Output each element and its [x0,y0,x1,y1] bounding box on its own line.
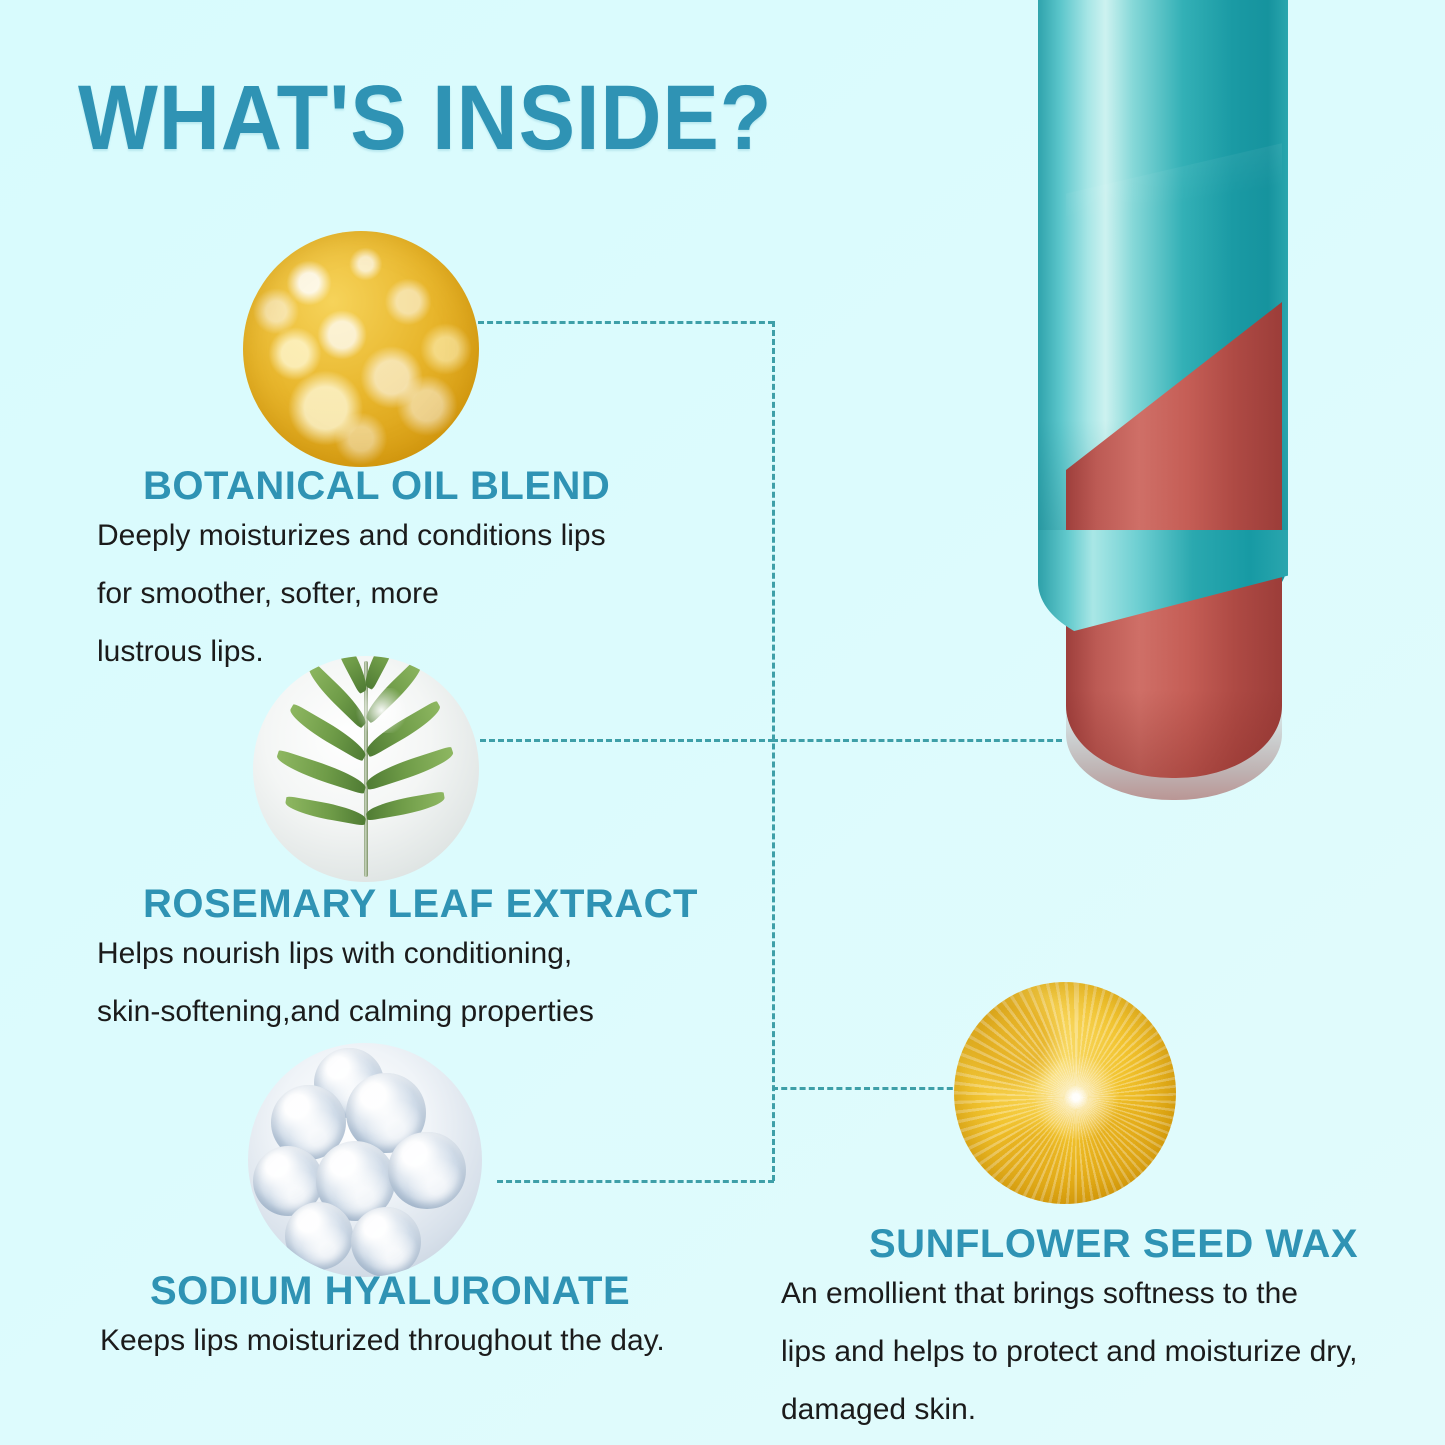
page-title: WHAT'S INSIDE? [78,72,772,164]
lipstick-bullet-base-shading [1066,690,1282,800]
rosemary-leaf-extract-line-2: skin-softening,and calming properties [97,983,594,1041]
botanical-oil-blend-title: BOTANICAL OIL BLEND [143,464,610,509]
connector-rosemary-horizontal [480,739,774,742]
golden-wax-droplet-icon [954,982,1176,1204]
connector-lipstick-horizontal [772,739,1062,742]
whats-inside-infographic: WHAT'S INSIDE? BOTANICAL OIL BLEND Deepl… [0,0,1445,1445]
sunflower-seed-wax-line-3: damaged skin. [781,1381,1357,1439]
connector-trunk-vertical [772,321,775,1181]
water-bubbles-icon [248,1043,482,1277]
botanical-oil-blend-line-1: Deeply moisturizes and conditions lips [97,507,606,565]
botanical-oil-blend-body: Deeply moisturizes and conditions lips f… [97,507,606,681]
sunflower-seed-wax-body: An emollient that brings softness to the… [781,1265,1357,1439]
rosemary-leaf-extract-body: Helps nourish lips with conditioning, sk… [97,925,594,1041]
rosemary-highlight [352,688,411,733]
water-bubble [285,1202,353,1270]
sunflower-seed-wax-title: SUNFLOWER SEED WAX [869,1222,1358,1267]
connector-sunflower-horizontal [772,1087,962,1090]
rosemary-leaf-extract-line-1: Helps nourish lips with conditioning, [97,925,594,983]
water-bubble [388,1132,465,1209]
sunflower-seed-wax-line-1: An emollient that brings softness to the [781,1265,1357,1323]
rosemary-leaf [365,791,447,821]
sunflower-seed-wax-line-2: lips and helps to protect and moisturize… [781,1323,1357,1381]
rosemary-leaf [284,796,368,826]
sodium-hyaluronate-line-1: Keeps lips moisturized throughout the da… [100,1312,665,1370]
sodium-hyaluronate-title: SODIUM HYALURONATE [150,1269,630,1314]
sodium-hyaluronate-body: Keeps lips moisturized throughout the da… [100,1312,665,1370]
golden-oil-bubbles-icon [243,231,479,467]
lipstick-product-image [1038,0,1288,820]
rosemary-sprig-icon [253,656,479,882]
botanical-oil-blend-line-2: for smoother, softer, more [97,565,606,623]
connector-sodium-horizontal [497,1180,774,1183]
water-bubble [351,1207,421,1277]
rosemary-leaf-extract-title: ROSEMARY LEAF EXTRACT [143,882,698,927]
connector-oil-horizontal [478,321,774,324]
